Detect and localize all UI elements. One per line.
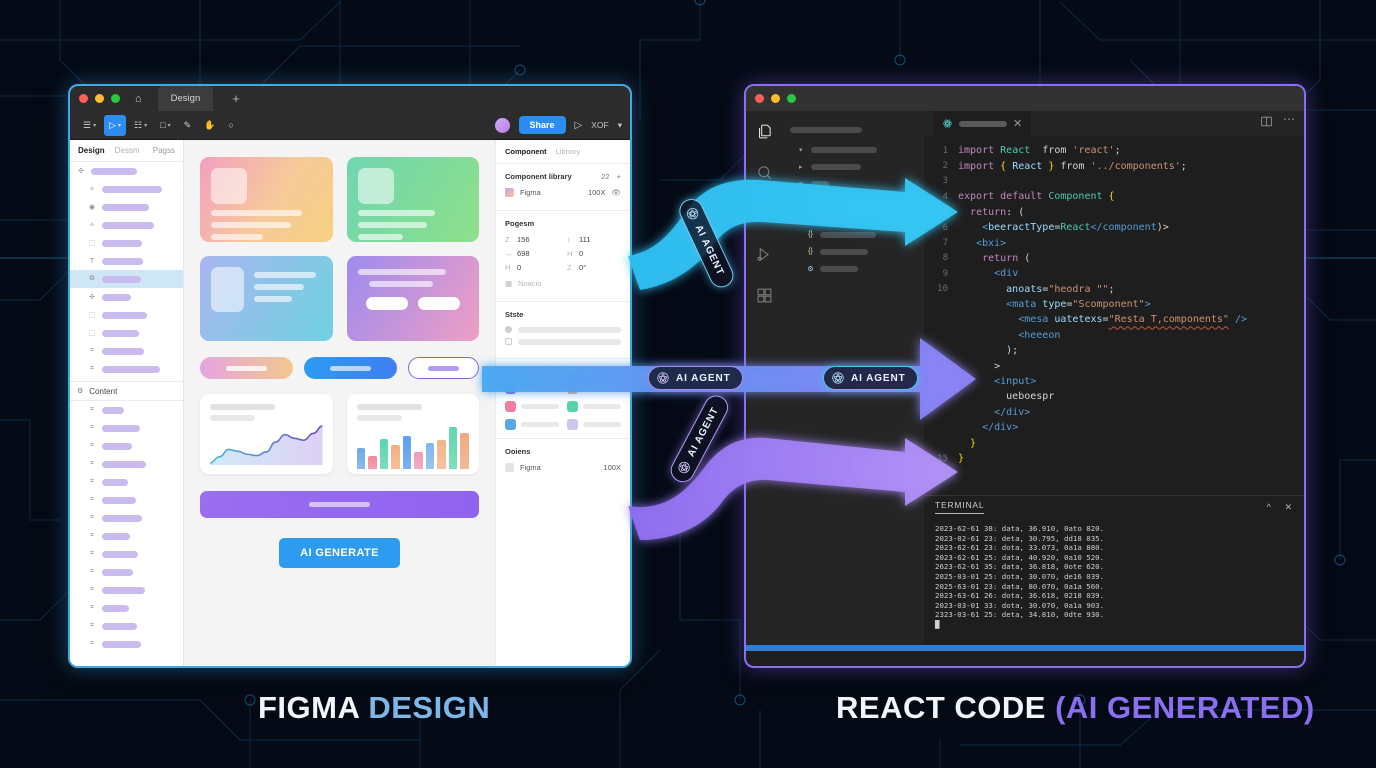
file-name-placeholder bbox=[811, 164, 861, 170]
terminal-line: 2023-03-01 33: dota, 30.070, 0a1a 903. bbox=[935, 601, 1293, 611]
content-section-label: Content bbox=[89, 387, 117, 396]
explorer-row[interactable]: ⚛ bbox=[782, 192, 924, 209]
content-name-placeholder bbox=[102, 623, 137, 630]
layer-name-placeholder bbox=[102, 240, 142, 247]
terminal-line: 2023-62-61 25: data, 40.920, 0a10 520. bbox=[935, 553, 1293, 563]
pill-gradient-button[interactable] bbox=[200, 357, 293, 379]
line-number: 1 bbox=[924, 146, 958, 156]
ai-generate-button[interactable]: AI GENERATE bbox=[279, 538, 400, 568]
layer-row[interactable]: ◉ bbox=[70, 198, 183, 216]
content-name-placeholder bbox=[102, 551, 138, 558]
chevron-icon[interactable]: ▸ bbox=[799, 163, 806, 171]
code-line: 1import React from 'react'; bbox=[924, 143, 1304, 158]
library-swatch bbox=[505, 188, 514, 197]
pill-primary-button[interactable] bbox=[304, 357, 397, 379]
library-item-value: 100X bbox=[588, 188, 606, 197]
ai-agent-badge-mid-left[interactable]: AI AGENT bbox=[648, 366, 743, 390]
code-line: 10 anoats="heodra ""; bbox=[924, 282, 1304, 297]
minimize-button[interactable] bbox=[95, 94, 104, 103]
content-name-placeholder bbox=[102, 587, 145, 594]
content-section-header[interactable]: ⚙ Content bbox=[70, 381, 183, 401]
card-button[interactable] bbox=[366, 297, 408, 310]
code-line: <heeeon bbox=[924, 328, 1304, 343]
terminal-line: 2323-03-61 25: deta, 34.810, 0dte 930. bbox=[935, 610, 1293, 620]
grid-icon: ⌗ bbox=[88, 586, 96, 594]
content-name-placeholder bbox=[102, 479, 128, 486]
position-footer-label: Noacio bbox=[518, 279, 541, 288]
code-text: <mata type="Scomponent"> bbox=[958, 299, 1151, 310]
position-field[interactable]: ↕111 bbox=[567, 235, 621, 244]
terminal-line: 2025-63-01 23: data, 80.070, 0a1a 560. bbox=[935, 582, 1293, 592]
color-swatch bbox=[567, 419, 578, 430]
layer-name-placeholder bbox=[102, 312, 147, 319]
layer-name-placeholder bbox=[102, 258, 143, 265]
zoom-level[interactable]: XOF bbox=[591, 120, 608, 130]
tab-component[interactable]: Component bbox=[505, 147, 547, 156]
layer-row[interactable]: ⌗ bbox=[70, 360, 183, 378]
file-name-placeholder bbox=[820, 249, 868, 255]
terminal-line: 2023-63-61 26: dota, 36.618, 0218 039. bbox=[935, 591, 1293, 601]
layer-name-placeholder bbox=[102, 330, 139, 337]
card-line bbox=[358, 210, 435, 216]
card-line bbox=[358, 234, 403, 240]
layer-name-placeholder bbox=[102, 186, 162, 193]
code-text: import React from 'react'; bbox=[958, 145, 1121, 156]
color-swatch bbox=[505, 383, 516, 394]
figma-file-tab[interactable]: Design bbox=[158, 86, 214, 111]
code-text: <div bbox=[958, 268, 1018, 279]
line-number: 10 bbox=[924, 284, 958, 294]
inspector-tabs: Component Libnory bbox=[496, 140, 630, 164]
code-line: 3 bbox=[924, 174, 1304, 189]
style-swatch-row[interactable] bbox=[567, 419, 621, 430]
style-swatches[interactable] bbox=[505, 383, 621, 430]
chevron-icon[interactable]: ▾ bbox=[799, 180, 806, 188]
grid-icon: ⌗ bbox=[88, 406, 96, 414]
position-field[interactable]: Z0° bbox=[567, 263, 621, 272]
js-file-icon: {} bbox=[806, 248, 815, 255]
terminal-output: 2023-62-61 38: data, 36.910, 0ato 820.20… bbox=[924, 518, 1304, 636]
grid-icon: ⌗ bbox=[88, 604, 96, 612]
figma-title-bar: ⌂ Design + bbox=[70, 86, 630, 111]
bar-chart bbox=[357, 427, 470, 469]
caption-right-part1: REACT CODE bbox=[836, 690, 1046, 725]
content-list[interactable]: ⌗⌗⌗⌗⌗⌗⌗⌗⌗⌗⌗⌗⌗⌗ bbox=[70, 401, 183, 653]
run-debug-icon[interactable] bbox=[753, 243, 775, 265]
grid-icon: ⌗ bbox=[88, 424, 96, 432]
explorer-row[interactable]: ▾ bbox=[782, 141, 924, 158]
card-thumbnail bbox=[358, 168, 394, 204]
options-item-label: Figma bbox=[520, 463, 541, 472]
code-line: 5 return: ( bbox=[924, 205, 1304, 220]
style-swatch-row[interactable] bbox=[505, 419, 559, 430]
bar bbox=[449, 427, 458, 469]
card-line bbox=[369, 281, 433, 287]
code-text: import { React } from '../components'; bbox=[958, 161, 1187, 172]
close-button[interactable] bbox=[755, 94, 764, 103]
hand-icon[interactable]: ✋ bbox=[199, 115, 220, 136]
content-name-placeholder bbox=[102, 461, 146, 468]
component-icon: ✣ bbox=[77, 167, 85, 175]
ai-agent-label: AI AGENT bbox=[851, 373, 906, 384]
content-row[interactable]: ⌗ bbox=[70, 509, 183, 527]
layer-name-placeholder bbox=[102, 294, 131, 301]
caption-right: REACT CODE (AI GENERATED) bbox=[836, 690, 1315, 726]
layer-row[interactable]: ⧉ bbox=[70, 270, 183, 288]
code-line: 4export default Component { bbox=[924, 189, 1304, 204]
frame-icon[interactable]: ☷▾ bbox=[129, 115, 152, 136]
editor-tab[interactable]: ✕ bbox=[933, 111, 1031, 136]
terminal-panel[interactable]: TERMINAL ^ ✕ 2023-62-61 38: data, 36.910… bbox=[924, 495, 1304, 645]
primary-action-bar[interactable] bbox=[200, 491, 479, 518]
frame-icon: ⬚ bbox=[88, 329, 96, 337]
card-line bbox=[254, 296, 292, 302]
grid-icon: ⌗ bbox=[88, 532, 96, 540]
code-line: 15} bbox=[924, 451, 1304, 466]
design-card-blue[interactable] bbox=[200, 256, 333, 341]
line-number: 15 bbox=[924, 454, 958, 464]
card-button[interactable] bbox=[418, 297, 460, 310]
pages-label[interactable]: Pagss bbox=[153, 146, 175, 155]
component-count: 22 bbox=[601, 172, 609, 181]
position-field[interactable]: H0 bbox=[505, 263, 559, 272]
caption-right-part2: (AI GENERATED) bbox=[1055, 690, 1315, 725]
style-swatch-row[interactable] bbox=[567, 401, 621, 412]
component-library-section: Component library 22 + Figma 100X 👁 bbox=[496, 164, 630, 211]
config-file-icon: ⚙ bbox=[806, 265, 815, 273]
neural-network-icon bbox=[675, 458, 694, 477]
layer-row[interactable]: T bbox=[70, 252, 183, 270]
code-text: } bbox=[958, 453, 964, 464]
content-name-placeholder bbox=[102, 425, 140, 432]
explorer-row[interactable]: {} bbox=[782, 243, 924, 260]
cursor-icon[interactable]: ▷▾ bbox=[104, 115, 126, 136]
layer-name-placeholder bbox=[102, 366, 160, 373]
card-line bbox=[211, 234, 263, 240]
figma-window[interactable]: ⌂ Design + ☰▾ ▷▾ ☷▾ □▾ ✎ ✋ ○ Share ▷ XOF… bbox=[68, 84, 632, 668]
radio-icon[interactable] bbox=[505, 326, 512, 333]
component-library-title: Component library bbox=[505, 172, 572, 181]
content-row[interactable]: ⌗ bbox=[70, 581, 183, 599]
field-value: 111 bbox=[579, 235, 590, 244]
content-row[interactable]: ⌗ bbox=[70, 455, 183, 473]
terminal-line: 2623-62-61 35: data, 36.818, 0ote 620. bbox=[935, 562, 1293, 572]
terminal-line: 2023-02-61 23: deta, 30.795, dd18 035. bbox=[935, 534, 1293, 544]
code-text: return ( bbox=[958, 253, 1030, 264]
file-name-placeholder bbox=[820, 215, 862, 221]
content-row[interactable]: ⌗ bbox=[70, 617, 183, 635]
options-section: Ooiens Figma 100X bbox=[496, 439, 630, 485]
share-button[interactable]: Share bbox=[519, 116, 566, 134]
pen-icon[interactable]: ✎ bbox=[179, 115, 197, 136]
grid-icon: ⌗ bbox=[88, 622, 96, 630]
neural-network-icon bbox=[656, 371, 670, 385]
js-file-icon: {} bbox=[806, 231, 815, 238]
state-placeholder bbox=[518, 327, 621, 333]
content-name-placeholder bbox=[102, 443, 132, 450]
content-row[interactable]: ⌗ bbox=[70, 401, 183, 419]
state-title: Stste bbox=[505, 310, 523, 319]
code-line: 6 <beeractType=React</component)> bbox=[924, 220, 1304, 235]
bar-chart-card[interactable] bbox=[347, 394, 480, 474]
explorer-row[interactable]: ▾ bbox=[782, 175, 924, 192]
content-row[interactable]: ⌗ bbox=[70, 419, 183, 437]
more-actions-icon[interactable]: ⋯ bbox=[1283, 115, 1295, 133]
content-name-placeholder bbox=[102, 515, 142, 522]
chart-subtitle-placeholder bbox=[357, 415, 402, 421]
figma-canvas[interactable]: AI GENERATE bbox=[184, 140, 495, 668]
checkbox-icon[interactable] bbox=[505, 338, 512, 345]
activity-bar[interactable] bbox=[746, 111, 782, 645]
play-icon[interactable]: ▷ bbox=[575, 120, 583, 131]
card-line bbox=[254, 272, 316, 278]
frame-icon: ⬚ bbox=[88, 239, 96, 247]
terminal-header: TERMINAL ^ ✕ bbox=[924, 496, 1304, 518]
code-text: <mesa uatetexs="Resta T,components" /> bbox=[958, 314, 1247, 325]
bar bbox=[380, 439, 389, 469]
code-line: <mata type="Scomponent"> bbox=[924, 297, 1304, 312]
code-line: ueboespr bbox=[924, 389, 1304, 404]
layer-row[interactable]: ⬚ bbox=[70, 234, 183, 252]
style-swatch-row[interactable] bbox=[505, 383, 559, 394]
field-key: H bbox=[567, 249, 574, 258]
grid-icon: ⌗ bbox=[88, 442, 96, 450]
color-swatch bbox=[505, 419, 516, 430]
branch-icon[interactable] bbox=[753, 202, 775, 224]
tab-library[interactable]: Libnory bbox=[556, 147, 581, 156]
content-row[interactable]: ⌗ bbox=[70, 545, 183, 563]
content-row[interactable]: ⌗ bbox=[70, 473, 183, 491]
code-text: } bbox=[958, 438, 976, 449]
home-icon[interactable]: ⌂ bbox=[135, 93, 142, 105]
options-swatch bbox=[505, 463, 514, 472]
position-field[interactable]: H0 bbox=[567, 249, 621, 258]
style-name-placeholder bbox=[521, 422, 559, 427]
explorer-header bbox=[782, 119, 924, 141]
color-swatch bbox=[567, 401, 578, 412]
chevron-down-icon[interactable]: ▾ bbox=[618, 120, 622, 131]
explorer-row[interactable]: {} bbox=[782, 226, 924, 243]
vector-icon: ✧ bbox=[88, 221, 96, 229]
pill-button-row bbox=[200, 357, 479, 379]
field-key: Z bbox=[567, 263, 574, 272]
grid-icon: ⌗ bbox=[88, 514, 96, 522]
code-text: <input> bbox=[958, 376, 1036, 387]
layer-row[interactable]: ✣ bbox=[70, 162, 183, 180]
eye-icon[interactable]: 👁 bbox=[611, 188, 621, 197]
layer-name-placeholder bbox=[102, 348, 144, 355]
tab-assets[interactable]: Dessm bbox=[115, 146, 140, 155]
search-icon[interactable] bbox=[753, 161, 775, 183]
position-field[interactable]: ↔698 bbox=[505, 249, 559, 258]
code-text: </div> bbox=[958, 407, 1030, 418]
close-icon[interactable]: ✕ bbox=[1013, 117, 1022, 130]
file-name-placeholder bbox=[811, 181, 829, 187]
editor-area[interactable]: ✕ ⋯ 1import React from 'react';2import {… bbox=[924, 111, 1304, 645]
position-fields[interactable]: Z156↕111↔698H0H0Z0° bbox=[505, 235, 621, 272]
layer-row[interactable]: ✧ bbox=[70, 216, 183, 234]
new-tab-button[interactable]: + bbox=[232, 91, 240, 106]
grid-icon: ⌗ bbox=[88, 550, 96, 558]
library-item-label: Figma bbox=[520, 188, 541, 197]
layer-row[interactable]: ⬚ bbox=[70, 306, 183, 324]
menu-icon[interactable]: ☰▾ bbox=[78, 115, 101, 136]
file-name-placeholder bbox=[820, 232, 876, 238]
design-card-warm[interactable] bbox=[200, 157, 333, 242]
bar bbox=[437, 440, 446, 469]
layer-name-placeholder bbox=[91, 168, 137, 175]
layer-row[interactable]: ✧ bbox=[70, 180, 183, 198]
code-line: </div> bbox=[924, 405, 1304, 420]
split-editor-icon[interactable] bbox=[1260, 115, 1273, 133]
maximize-button[interactable] bbox=[787, 94, 796, 103]
field-key: Z bbox=[505, 235, 512, 244]
card-line bbox=[358, 222, 428, 228]
caption-left-part2: DESIGN bbox=[368, 690, 490, 725]
bar bbox=[426, 443, 435, 469]
comment-icon[interactable]: ○ bbox=[223, 115, 238, 136]
layer-row[interactable]: ✣ bbox=[70, 288, 183, 306]
tab-design[interactable]: Design bbox=[78, 146, 105, 155]
close-button[interactable] bbox=[79, 94, 88, 103]
file-name-placeholder bbox=[820, 198, 864, 204]
layer-list[interactable]: ✣✧◉✧⬚T⧉✣⬚⬚⌗⌗ bbox=[70, 162, 183, 378]
styles-title: Stne: bbox=[505, 367, 524, 376]
design-card-pink[interactable] bbox=[347, 256, 480, 341]
explorer-row[interactable]: ⚙ bbox=[782, 260, 924, 277]
content-row[interactable]: ⌗ bbox=[70, 437, 183, 455]
code-text: <bxi> bbox=[958, 238, 1006, 249]
card-line bbox=[211, 210, 302, 216]
grid-icon: ⌗ bbox=[88, 496, 96, 504]
style-swatch-row[interactable] bbox=[505, 401, 559, 412]
code-line: <input> bbox=[924, 374, 1304, 389]
terminal-prompt: █ bbox=[935, 620, 1293, 630]
figma-inspector-panel[interactable]: Component Libnory Component library 22 +… bbox=[495, 140, 630, 668]
ai-agent-badge-mid-right[interactable]: AI AGENT bbox=[823, 366, 918, 390]
content-name-placeholder bbox=[102, 533, 130, 540]
style-name-placeholder bbox=[583, 404, 621, 409]
group-icon: ⧉ bbox=[88, 275, 96, 283]
card-thumbnail bbox=[211, 267, 244, 312]
square-icon[interactable]: □▾ bbox=[155, 115, 175, 136]
files-icon[interactable] bbox=[753, 120, 775, 142]
content-name-placeholder bbox=[102, 497, 136, 504]
explorer-row[interactable]: ▸ bbox=[782, 158, 924, 175]
chevron-icon[interactable]: ▾ bbox=[799, 146, 806, 154]
position-field[interactable]: Z156 bbox=[505, 235, 559, 244]
code-text: <beeractType=React</component)> bbox=[958, 222, 1169, 233]
styles-section: Stne: bbox=[496, 359, 630, 439]
content-name-placeholder bbox=[102, 407, 124, 414]
layer-row[interactable]: ⬚ bbox=[70, 324, 183, 342]
code-line: 7 <bxi> bbox=[924, 235, 1304, 250]
code-line: ); bbox=[924, 343, 1304, 358]
code-line: 9 <div bbox=[924, 266, 1304, 281]
ai-agent-label: AI AGENT bbox=[676, 373, 731, 384]
field-value: 0° bbox=[579, 263, 586, 272]
layer-name-placeholder bbox=[102, 204, 149, 211]
chevron-up-icon[interactable]: ^ bbox=[1267, 502, 1272, 513]
field-value: 156 bbox=[517, 235, 530, 244]
figma-layers-panel[interactable]: Design Dessm Pagss ✣✧◉✧⬚T⧉✣⬚⬚⌗⌗ ⚙ Conten… bbox=[70, 140, 184, 668]
state-placeholder bbox=[518, 339, 621, 345]
line-number: 7 bbox=[924, 238, 958, 248]
content-row[interactable]: ⌗ bbox=[70, 635, 183, 653]
neural-network-icon bbox=[831, 371, 845, 385]
content-row[interactable]: ⌗ bbox=[70, 599, 183, 617]
style-swatch-row[interactable] bbox=[567, 383, 621, 394]
style-name-placeholder bbox=[583, 386, 621, 391]
content-row[interactable]: ⌗ bbox=[70, 491, 183, 509]
file-name-placeholder bbox=[811, 147, 877, 153]
pill-outline-button[interactable] bbox=[408, 357, 479, 379]
minimize-button[interactable] bbox=[771, 94, 780, 103]
grid-icon: ⌗ bbox=[88, 460, 96, 468]
layer-row[interactable]: ⌗ bbox=[70, 342, 183, 360]
code-text: anoats="heodra ""; bbox=[958, 284, 1115, 295]
style-name-placeholder bbox=[521, 386, 559, 391]
card-line bbox=[358, 269, 446, 275]
terminal-line: 2023-62-61 23: dota, 33.073, 0a1a 880. bbox=[935, 543, 1293, 553]
field-value: 698 bbox=[517, 249, 530, 258]
editor-tab-bar: ✕ ⋯ bbox=[924, 111, 1304, 136]
code-editor[interactable]: 1import React from 'react';2import { Rea… bbox=[924, 136, 1304, 495]
code-text: <heeeon bbox=[958, 330, 1060, 341]
terminal-line: 2023-62-61 38: data, 36.910, 0ato 820. bbox=[935, 524, 1293, 534]
component-icon: ✣ bbox=[88, 293, 96, 301]
bar bbox=[391, 445, 400, 469]
explorer-file-list[interactable]: ▾▸▾⚛⚛{}{}⚙ bbox=[782, 141, 924, 277]
explorer-row[interactable]: ⚛ bbox=[782, 209, 924, 226]
avatar[interactable] bbox=[495, 118, 510, 133]
bar bbox=[357, 448, 366, 469]
content-row[interactable]: ⌗ bbox=[70, 563, 183, 581]
card-line bbox=[254, 284, 304, 290]
content-row[interactable]: ⌗ bbox=[70, 527, 183, 545]
options-title: Ooiens bbox=[505, 447, 530, 456]
layer-name-placeholder bbox=[102, 222, 154, 229]
color-swatch bbox=[505, 401, 516, 412]
area-chart bbox=[210, 421, 323, 465]
line-number: 9 bbox=[924, 269, 958, 279]
plus-icon[interactable]: + bbox=[617, 172, 621, 181]
figma-toolbar: ☰▾ ▷▾ ☷▾ □▾ ✎ ✋ ○ Share ▷ XOF ▾ bbox=[70, 111, 630, 140]
extensions-icon[interactable] bbox=[753, 284, 775, 306]
constraint-icon: ▦ bbox=[505, 279, 512, 288]
frame-icon: ⬚ bbox=[88, 311, 96, 319]
code-text: ueboespr bbox=[958, 391, 1054, 402]
card-line bbox=[211, 222, 291, 228]
chart-title-placeholder bbox=[357, 404, 422, 410]
close-icon[interactable]: ✕ bbox=[1285, 502, 1293, 513]
area-chart-card[interactable] bbox=[200, 394, 333, 474]
bar bbox=[403, 436, 412, 469]
line-number: 2 bbox=[924, 161, 958, 171]
maximize-button[interactable] bbox=[111, 94, 120, 103]
react-file-icon: ⚛ bbox=[806, 214, 815, 222]
field-key: H bbox=[505, 263, 512, 272]
field-value: 0 bbox=[579, 249, 583, 258]
grid-icon: ⌗ bbox=[88, 640, 96, 648]
code-line: 2import { React } from '../components'; bbox=[924, 158, 1304, 173]
code-line: <mesa uatetexs="Resta T,components" /> bbox=[924, 312, 1304, 327]
caption-left-part1: FIGMA bbox=[258, 690, 359, 725]
field-key: ↕ bbox=[567, 235, 574, 244]
design-card-green[interactable] bbox=[347, 157, 480, 242]
line-number: 8 bbox=[924, 253, 958, 263]
vector-icon: ✧ bbox=[88, 185, 96, 193]
